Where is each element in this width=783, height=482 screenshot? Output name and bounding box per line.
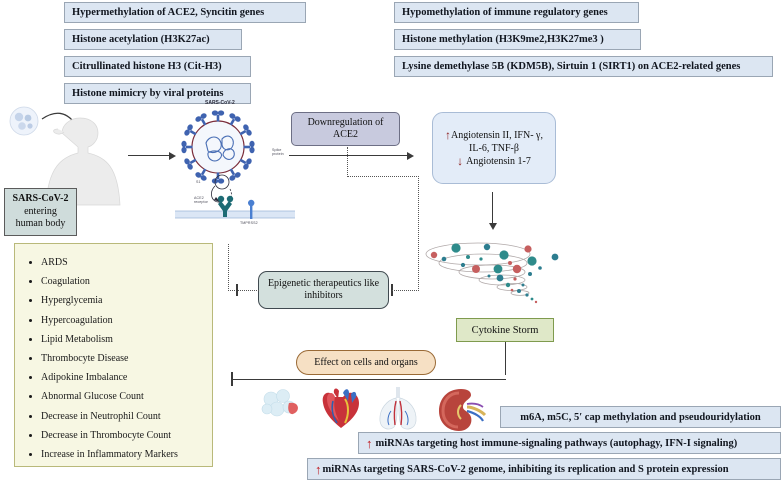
epigenetic-left-box-1: Hypermethylation of ACE2, Syncitin genes	[64, 2, 306, 23]
dashed-connector-right-vertical	[418, 176, 419, 291]
s1-label: S1	[196, 180, 201, 184]
effect-pill-label: Effect on cells and organs	[314, 357, 418, 368]
epigenetic-left-box-3: Citrullinated histone H3 (Cit-H3)	[64, 56, 251, 77]
organ-icons-row	[259, 385, 509, 433]
cells-icon	[262, 390, 298, 417]
virus-title-label: SARS-CoV-2	[205, 100, 235, 106]
entry-box-line2: entering	[24, 206, 57, 219]
arrow-human-to-virus	[128, 155, 170, 156]
list-item: Coagulation	[41, 277, 202, 287]
epigenetic-therapeutics-box: Epigenetic therapeutics like inhibitors	[258, 271, 389, 309]
epigenetic-right-box-3-label: Lysine demethylase 5B (KDM5B), Sirtuin 1…	[402, 61, 740, 72]
organ-distribution-line	[231, 379, 506, 380]
ace2-receptor-label: ACE2 receptor	[194, 196, 208, 205]
epigenetic-therapeutics-line1: Epigenetic therapeutics like	[268, 278, 379, 291]
list-item: Decrease in Thrombocyte Count	[41, 431, 202, 441]
cytokine-storm-box: Cytokine Storm	[456, 318, 554, 342]
virus-ace2-diagram	[175, 107, 295, 227]
arrow-downregulation-to-cytokine-head	[407, 152, 414, 160]
cytokine-dots	[431, 243, 559, 303]
bottom-box-3-label: miRNAs targeting SARS-CoV-2 genome, inhi…	[323, 464, 729, 475]
epigenetic-left-box-2-label: Histone acetylation (H3K27ac)	[72, 34, 210, 45]
epigenetic-left-box-4-label: Histone mimicry by viral proteins	[72, 88, 223, 99]
mediator-down-arrow: ↓	[457, 155, 463, 167]
list-item: Lipid Metabolism	[41, 335, 202, 345]
mediator-line1: Angiotensin II, IFN- γ,	[451, 129, 543, 142]
dashed-connector-left	[228, 290, 259, 291]
arrow-mediator-to-storm	[492, 192, 493, 224]
list-item: Hypercoagulation	[41, 316, 202, 326]
spike-protein-label-line2: protein	[272, 152, 284, 156]
ace2-receptor-label-line2: receptor	[194, 200, 208, 204]
epigenetic-left-box-1-label: Hypermethylation of ACE2, Syncitin genes	[72, 7, 264, 18]
epigenetic-right-box-1: Hypomethylation of immune regulatory gen…	[394, 2, 639, 23]
effect-pill-box: Effect on cells and organs	[296, 350, 436, 375]
bottom-box-2-arrow: ↑	[366, 437, 373, 450]
list-item: Thrombocyte Disease	[41, 354, 202, 364]
list-item: ARDS	[41, 258, 202, 268]
dashed-connector-top	[347, 176, 419, 177]
arrow-downregulation-to-cytokine	[289, 155, 408, 156]
spike-protein-label: Spike protein	[272, 148, 284, 157]
epigenetic-right-box-2-label: Histone methylation (H3K9me2,H3K27me3 )	[402, 34, 604, 45]
heart-icon	[323, 389, 359, 428]
dashed-connector-right	[392, 290, 419, 291]
list-item: Hyperglycemia	[41, 296, 202, 306]
epigenetic-left-box-3-label: Citrullinated histone H3 (Cit-H3)	[72, 61, 222, 72]
downregulation-box-line1: Downregulation of	[308, 117, 384, 130]
clinical-outcomes-list: ARDS Coagulation Hyperglycemia Hypercoag…	[15, 244, 212, 479]
epigenetic-left-box-2: Histone acetylation (H3K27ac)	[64, 29, 242, 50]
lungs-icon	[380, 387, 416, 429]
bottom-box-3: ↑ miRNAs targeting SARS-CoV-2 genome, in…	[307, 458, 781, 480]
kidney-icon	[439, 389, 485, 431]
entry-box-line1: SARS-CoV-2	[13, 193, 69, 206]
epigenetic-right-box-3: Lysine demethylase 5B (KDM5B), Sirtuin 1…	[394, 56, 773, 77]
epigenetic-right-box-1-label: Hypomethylation of immune regulatory gen…	[402, 7, 608, 18]
bottom-box-3-arrow: ↑	[315, 463, 322, 476]
dashed-connector-left-vertical	[228, 244, 229, 291]
bottom-box-1: m6A, m5C, 5′ cap methylation and pseudou…	[500, 406, 781, 428]
clinical-outcomes-panel: ARDS Coagulation Hyperglycemia Hypercoag…	[14, 243, 213, 467]
downregulation-box: Downregulation of ACE2	[291, 112, 400, 146]
mediator-line2: IL-6, TNF-β	[469, 143, 519, 154]
bottom-box-2: ↑ miRNAs targeting host immune-signaling…	[358, 432, 781, 454]
cytokine-swarm-illustration	[420, 238, 580, 316]
diagram-canvas: Hypermethylation of ACE2, Syncitin genes…	[0, 0, 783, 482]
entry-box-line3: human body	[16, 218, 66, 231]
list-item: Increase in Inflammatory Markers	[41, 450, 202, 460]
list-item: Adipokine Imbalance	[41, 373, 202, 383]
bottom-box-2-label: miRNAs targeting host immune-signaling p…	[376, 438, 738, 449]
inhibition-tbar-left	[236, 284, 238, 296]
mediator-upregulation-box: ↑ Angiotensin II, IFN- γ, IL-6, TNF-β ↓ …	[432, 112, 556, 184]
line-storm-to-organs	[505, 342, 506, 375]
mediator-line3: Angiotensin 1-7	[466, 155, 531, 168]
cell-membrane	[175, 211, 295, 218]
organ-distribution-tbar	[231, 372, 233, 386]
dashed-connector-down-from-box	[347, 147, 348, 177]
virion-body	[192, 121, 244, 173]
cytokine-storm-label: Cytokine Storm	[472, 325, 539, 336]
virus-cluster-icon	[10, 107, 38, 135]
tmprss2-label: TMPRSS2	[240, 221, 258, 225]
bottom-box-1-label: m6A, m5C, 5′ cap methylation and pseudou…	[520, 412, 760, 423]
epigenetic-therapeutics-line2: inhibitors	[304, 290, 342, 303]
list-item: Abnormal Glucose Count	[41, 392, 202, 402]
list-item: Decrease in Neutrophil Count	[41, 412, 202, 422]
epigenetic-right-box-2: Histone methylation (H3K9me2,H3K27me3 )	[394, 29, 641, 50]
entry-box: SARS-CoV-2 entering human body	[4, 188, 77, 236]
arrow-mediator-to-storm-head	[489, 223, 497, 230]
downregulation-box-line2: ACE2	[333, 129, 358, 142]
